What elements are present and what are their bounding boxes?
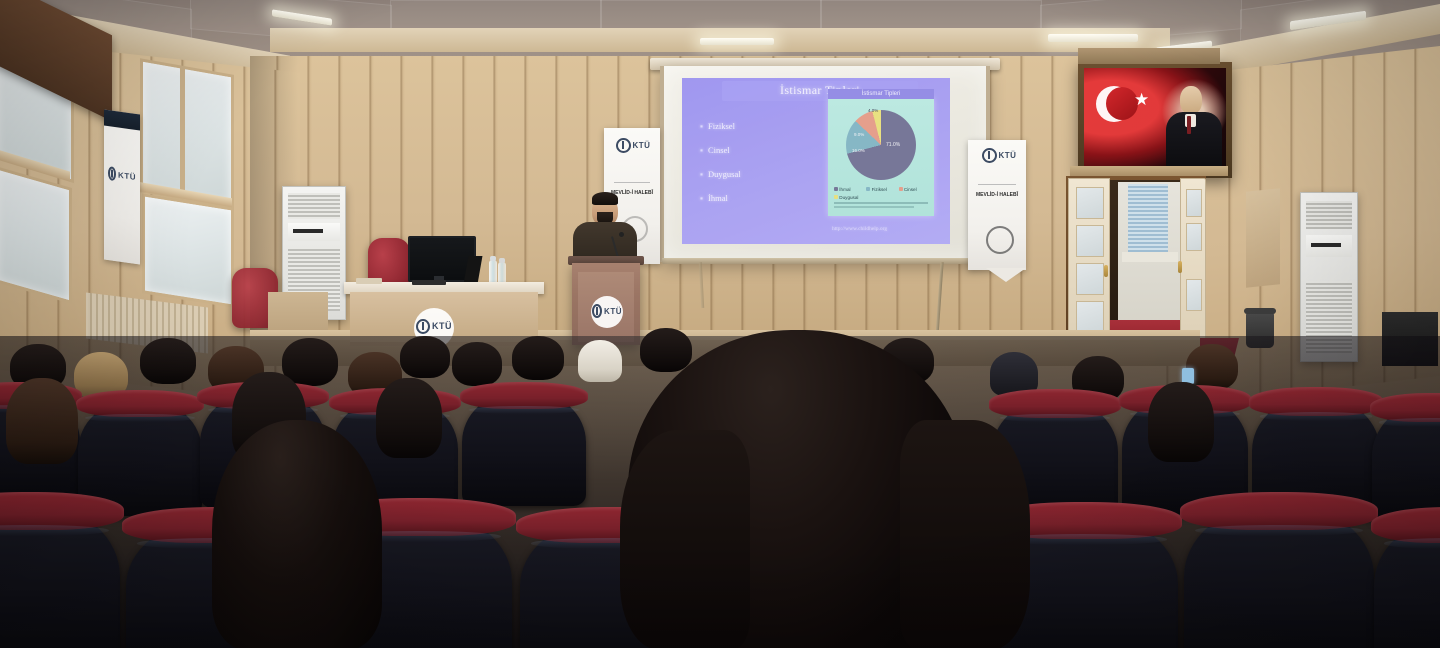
banner-seal	[986, 226, 1014, 254]
portrait-shelf	[1070, 166, 1228, 176]
screen-edge-left	[660, 66, 664, 262]
slide-bullet-2: ▪Cinsel	[700, 145, 730, 155]
auditorium-seat	[1372, 404, 1440, 524]
pie-label-1: 16.0%	[852, 148, 865, 153]
window-mullion	[180, 66, 185, 195]
projection-screen: İstismar Tipleri ▪Fiziksel ▪Cinsel ▪Duyg…	[662, 66, 988, 260]
door-leaf-right[interactable]	[1180, 178, 1206, 346]
slide-chart-card: İstismar Tipleri 71.0% 16.0% 9.0% 4.0% İ…	[828, 98, 934, 216]
ktu-logo-podium: KTÜ	[592, 304, 622, 318]
microphone-head-icon	[619, 232, 624, 237]
foreground-hair-left	[620, 430, 750, 648]
audience-head	[400, 336, 450, 378]
window-left-near-lower	[142, 193, 228, 301]
slide-source-url: http://www.childhelp.org	[832, 226, 887, 232]
banner-window-left: KTÜ	[104, 109, 140, 264]
audience-head	[512, 336, 564, 380]
foreground-head	[212, 420, 382, 648]
slide-bullet-3: ▪Duygusal	[700, 169, 741, 179]
ataturk-portrait: ★	[1084, 68, 1226, 172]
auditorium-seat	[1184, 506, 1374, 648]
banner-right-headline: MEVLİD-İ HALEBÎ	[970, 192, 1024, 198]
corridor-window-blinds	[1128, 184, 1168, 252]
bullet-marker-icon: ▪	[700, 193, 703, 203]
auditorium-seat	[0, 506, 120, 648]
ktu-logo-desk: KTÜ	[416, 318, 452, 334]
door-handle-icon[interactable]	[1104, 265, 1108, 277]
pie-label-3: 4.0%	[868, 108, 878, 113]
desk-papers	[356, 278, 382, 284]
wall-panel-right	[1246, 188, 1280, 288]
auditorium-seat	[462, 392, 586, 506]
star-icon: ★	[1134, 91, 1149, 108]
pie-label-2: 9.0%	[854, 132, 864, 137]
ktu-logo-banner-left: KTÜ	[614, 138, 652, 152]
slide-bullet-1: ▪Fiziksel	[700, 121, 735, 131]
pie-label-0: 71.0%	[886, 142, 900, 148]
audience-head	[6, 378, 78, 464]
water-bottle	[489, 260, 497, 284]
audience-headscarf	[578, 340, 622, 382]
ktu-logo-banner-right: KTÜ	[980, 148, 1018, 162]
ceiling-light	[700, 38, 774, 45]
bullet-marker-icon: ▪	[700, 121, 703, 131]
speaker-hair	[592, 192, 618, 205]
keyboard	[412, 280, 446, 285]
ceiling-light	[1048, 34, 1138, 42]
door-leaf-left[interactable]	[1068, 178, 1110, 344]
chart-title: İstismar Tipleri	[828, 89, 934, 99]
window-left-lower	[0, 166, 66, 297]
bullet-marker-icon: ▪	[700, 169, 703, 179]
door-handle-icon[interactable]	[1178, 261, 1182, 273]
water-bottle	[498, 262, 506, 284]
ataturk-head	[1180, 86, 1202, 114]
slide-projection: İstismar Tipleri ▪Fiziksel ▪Cinsel ▪Duyg…	[682, 78, 950, 244]
foreground-hair-right	[900, 420, 1030, 648]
ktu-logo-window-banner: KTÜ	[108, 166, 136, 184]
audience-head	[376, 378, 442, 458]
audience-head	[140, 338, 196, 384]
audience-head	[1148, 382, 1214, 462]
audience-head	[452, 342, 502, 386]
audience-head	[1186, 344, 1238, 390]
banner-tail	[986, 268, 1026, 282]
corridor-window-sill	[1122, 252, 1178, 262]
ataturk-tie	[1187, 116, 1191, 134]
portrait-header-trim	[1078, 48, 1220, 64]
ataturk-portrait-frame: ★	[1078, 62, 1232, 178]
auditorium-photo: KTÜ İstismar Tipleri ▪Fiziksel ▪Cinsel ▪…	[0, 0, 1440, 648]
audience-head	[640, 328, 692, 372]
slide-bullet-4: ▪İhmal	[700, 193, 728, 203]
bullet-marker-icon: ▪	[700, 145, 703, 155]
pie-chart: 71.0% 16.0% 9.0% 4.0%	[846, 110, 916, 180]
banner-right: KTÜ MEVLİD-İ HALEBÎ	[968, 140, 1026, 270]
chart-legend: İhmal Fiziksel Cinsel Duygusal	[834, 186, 930, 201]
